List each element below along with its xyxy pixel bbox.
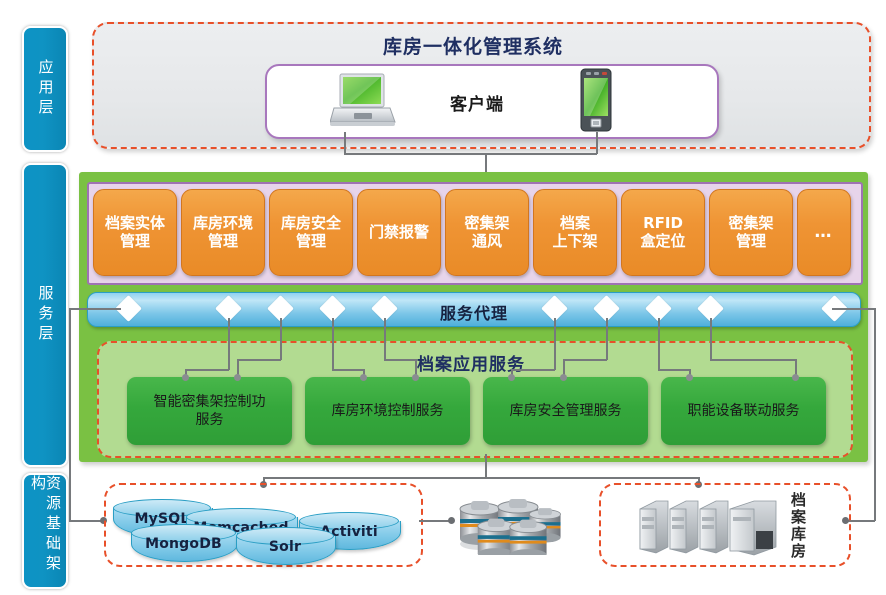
function-box-more-label: … (815, 222, 834, 242)
connector-dot-s2b (560, 374, 567, 381)
connector-d1-h (185, 369, 229, 371)
layer-tab-application: 应用层 (22, 26, 68, 152)
function-box-5[interactable]: 档案 上下架 (533, 189, 617, 276)
connector-d8-h (710, 359, 796, 361)
connector-phone-down (596, 132, 598, 154)
connector-infra-down (485, 454, 487, 478)
database-cylinder-mongodb[interactable]: MongoDB (131, 524, 236, 564)
function-box-2[interactable]: 库房安全 管理 (269, 189, 353, 276)
app-service-box-0[interactable]: 智能密集架控制功 服务 (127, 377, 292, 445)
layer-tab-service-label: 服务层 (38, 285, 53, 345)
connector-d6-v1 (606, 318, 608, 360)
database-label-mongodb: MongoDB (131, 536, 236, 552)
app-service-box-3[interactable]: 职能设备联动服务 (661, 377, 826, 445)
connector-dot-s0b (234, 374, 241, 381)
function-box-1-label: 库房环境 管理 (193, 215, 253, 250)
app-service-box-1[interactable]: 库房环境控制服务 (305, 377, 470, 445)
function-box-7[interactable]: 密集架 管理 (709, 189, 793, 276)
connector-client-bus (344, 153, 597, 155)
connector-dot-storage-left (448, 517, 455, 524)
function-box-5-label: 档案 上下架 (552, 215, 597, 250)
connector-dot-s3a (686, 374, 693, 381)
smartphone-icon (580, 68, 612, 132)
connector-d6-h (563, 359, 607, 361)
app-service-box-0-label: 智能密集架控制功 服务 (154, 393, 266, 429)
server-rack-icon (634, 495, 779, 557)
architecture-diagram: 应用层 服务层 资源基础架构 库房一体化管理系统 客户端 (0, 0, 886, 595)
function-box-2-label: 库房安全 管理 (281, 215, 341, 250)
layer-tab-service: 服务层 (22, 163, 68, 467)
function-box-1[interactable]: 库房环境 管理 (181, 189, 265, 276)
connector-dot-s2a (508, 374, 515, 381)
function-box-0[interactable]: 档案实体 管理 (93, 189, 177, 276)
connector-dot-s1a (360, 374, 367, 381)
archive-application-service-title: 档案应用服务 (417, 350, 525, 375)
application-layer-title: 库房一体化管理系统 (383, 32, 563, 59)
connector-db-to-storage (419, 520, 451, 522)
connector-d3-h (332, 369, 364, 371)
function-box-0-label: 档案实体 管理 (105, 215, 165, 250)
database-cylinder-solr[interactable]: Solr (236, 527, 334, 567)
layer-tab-application-label: 应用层 (38, 59, 53, 119)
database-label-solr: Solr (236, 539, 334, 555)
app-service-box-2[interactable]: 库房安全管理服务 (483, 377, 648, 445)
function-box-3-label: 门禁报警 (369, 224, 429, 242)
connector-right-h-top (832, 308, 876, 310)
connector-d7-v1 (658, 318, 660, 370)
connector-dot-s0a (182, 374, 189, 381)
connector-d4-h (384, 359, 416, 361)
function-box-more[interactable]: … (797, 189, 851, 276)
connector-left-h-bottom (69, 520, 104, 522)
connector-d5-h (511, 369, 555, 371)
connector-left-v (69, 308, 71, 521)
connector-d2-h (237, 359, 281, 361)
connector-right-v (874, 308, 876, 521)
connector-infra-bus (263, 477, 699, 479)
function-box-4-label: 密集架 通风 (464, 215, 509, 250)
archive-vault-label: 档案库房 (790, 492, 805, 560)
layer-tab-infrastructure-label: 资源基础架构 (30, 475, 60, 587)
connector-d5-v1 (554, 318, 556, 370)
function-box-7-label: 密集架 管理 (728, 215, 773, 250)
connector-d1-v1 (228, 318, 230, 370)
service-proxy-label: 服务代理 (440, 300, 508, 324)
function-box-4[interactable]: 密集架 通风 (445, 189, 529, 276)
connector-d3-v1 (332, 318, 334, 370)
connector-d8-v1 (710, 318, 712, 360)
layer-tab-infrastructure: 资源基础架构 (22, 473, 68, 589)
connector-laptop-down (344, 132, 346, 154)
laptop-icon (330, 72, 396, 128)
connector-d7-h (658, 369, 690, 371)
function-box-6[interactable]: RFID 盒定位 (621, 189, 705, 276)
function-box-6-label: RFID 盒定位 (640, 215, 685, 250)
app-service-box-2-label: 库房安全管理服务 (510, 402, 622, 420)
function-box-3[interactable]: 门禁报警 (357, 189, 441, 276)
connector-dot-s3b (792, 374, 799, 381)
app-service-box-1-label: 库房环境控制服务 (332, 402, 444, 420)
disk-array-icon (457, 497, 563, 555)
connector-dot-s1b (412, 374, 419, 381)
connector-left-h-top (69, 308, 121, 310)
app-service-box-3-label: 职能设备联动服务 (688, 402, 800, 420)
connector-d2-v1 (280, 318, 282, 360)
connector-d4-v1 (384, 318, 386, 360)
client-label: 客户端 (450, 90, 504, 115)
